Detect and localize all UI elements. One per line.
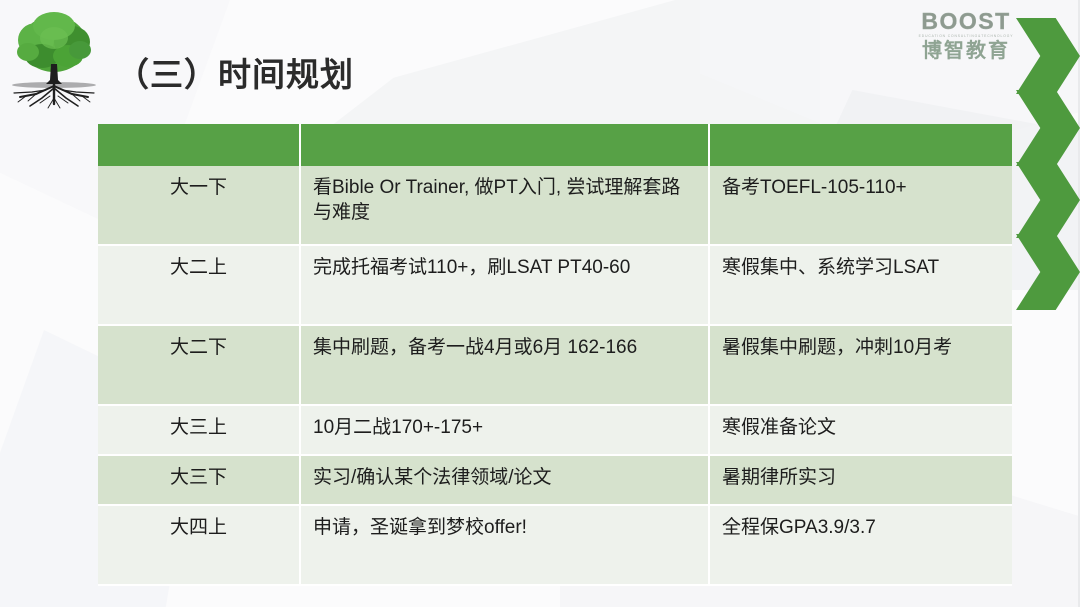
brand-wordmark: BOOST [910, 10, 1022, 33]
cell-plan: 实习/确认某个法律领域/论文 [300, 455, 709, 505]
page-title: （三）时间规划 [116, 48, 354, 96]
table-row: 大三上 10月二战170+-175+ 寒假准备论文 [98, 405, 1012, 455]
table-row: 大一下 看Bible Or Trainer, 做PT入门, 尝试理解套路与难度 … [98, 166, 1012, 245]
cell-term: 大三下 [98, 455, 300, 505]
cell-term: 大三上 [98, 405, 300, 455]
table-row: 大二上 完成托福考试110+，刷LSAT PT40-60 寒假集中、系统学习LS… [98, 245, 1012, 325]
table-row: 大三下 实习/确认某个法律领域/论文 暑期律所实习 [98, 455, 1012, 505]
column-header-plan [300, 124, 709, 166]
cell-goal: 寒假准备论文 [709, 405, 1012, 455]
table-row: 大二下 集中刷题，备考一战4月或6月 162-166 暑假集中刷题，冲刺10月考 [98, 325, 1012, 405]
cell-goal: 全程保GPA3.9/3.7 [709, 505, 1012, 585]
cell-plan: 完成托福考试110+，刷LSAT PT40-60 [300, 245, 709, 325]
cell-goal: 寒假集中、系统学习LSAT [709, 245, 1012, 325]
timeline-table: 大一下 看Bible Or Trainer, 做PT入门, 尝试理解套路与难度 … [98, 124, 1012, 586]
cell-plan: 看Bible Or Trainer, 做PT入门, 尝试理解套路与难度 [300, 166, 709, 245]
cell-term: 大二下 [98, 325, 300, 405]
chevron-stripe [1016, 162, 1080, 238]
cell-plan: 10月二战170+-175+ [300, 405, 709, 455]
cell-goal: 暑期律所实习 [709, 455, 1012, 505]
table-row: 大四上 申请，圣诞拿到梦校offer! 全程保GPA3.9/3.7 [98, 505, 1012, 585]
cell-term: 大一下 [98, 166, 300, 245]
cell-term: 大二上 [98, 245, 300, 325]
column-header-goal [709, 124, 1012, 166]
chevron-stripe [1016, 90, 1080, 166]
chevron-stripe [1016, 234, 1080, 310]
cell-term: 大四上 [98, 505, 300, 585]
slide-canvas: BOOST EDUCATION CONSULTING&TECHNOLOGY 博智… [0, 0, 1080, 607]
brand-chinese-name: 博智教育 [910, 41, 1022, 62]
column-header-term [98, 124, 300, 166]
tree-with-roots-icon [6, 4, 102, 112]
chevron-stripe [1016, 18, 1080, 94]
timeline-table-container: 大一下 看Bible Or Trainer, 做PT入门, 尝试理解套路与难度 … [98, 124, 1012, 586]
brand-tagline: EDUCATION CONSULTING&TECHNOLOGY [911, 35, 1021, 38]
cell-plan: 集中刷题，备考一战4月或6月 162-166 [300, 325, 709, 405]
cell-goal: 暑假集中刷题，冲刺10月考 [709, 325, 1012, 405]
brand-logo: BOOST EDUCATION CONSULTING&TECHNOLOGY 博智… [910, 10, 1022, 62]
chevron-stripe-icon [1016, 18, 1080, 296]
cell-plan: 申请，圣诞拿到梦校offer! [300, 505, 709, 585]
table-header-row [98, 124, 1012, 166]
cell-goal: 备考TOEFL-105-110+ [709, 166, 1012, 245]
